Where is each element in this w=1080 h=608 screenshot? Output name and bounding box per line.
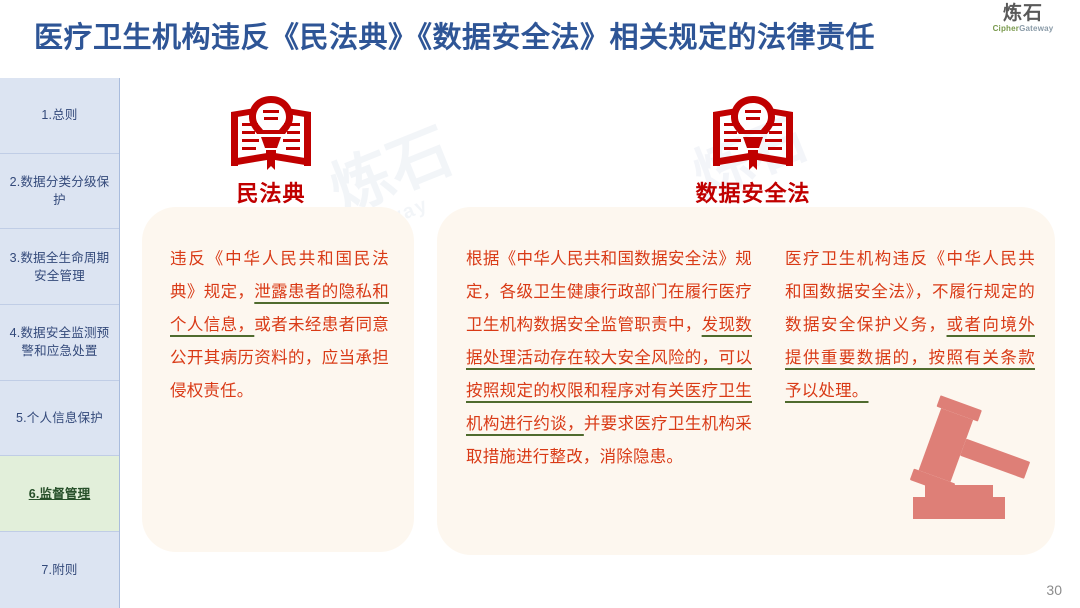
- sidebar-item-label: 4.数据安全监测预警和应急处置: [6, 324, 113, 360]
- sidebar-item-6-active[interactable]: 6.监督管理: [0, 456, 119, 532]
- sidebar-nav: 1.总则 2.数据分类分级保护 3.数据全生命周期安全管理 4.数据安全监测预警…: [0, 78, 120, 608]
- book-lightbulb-icon: [225, 96, 317, 174]
- sidebar-item-5[interactable]: 5.个人信息保护: [0, 381, 119, 457]
- sidebar-item-label: 6.监督管理: [29, 485, 91, 503]
- brand-logo: 炼石 CipherGateway: [980, 4, 1066, 33]
- sidebar-item-label: 7.附则: [41, 561, 77, 579]
- text-column-civil-code: 违反《中华人民共和国民法典》规定，泄露患者的隐私和个人信息，或者未经患者同意公开…: [170, 243, 389, 408]
- sidebar-item-1[interactable]: 1.总则: [0, 78, 119, 154]
- sidebar-item-label: 5.个人信息保护: [16, 409, 103, 427]
- sidebar-item-4[interactable]: 4.数据安全监测预警和应急处置: [0, 305, 119, 381]
- sidebar-item-label: 1.总则: [41, 106, 77, 124]
- brand-logo-en-cipher: Cipher: [993, 24, 1020, 33]
- sidebar-item-label: 3.数据全生命周期安全管理: [6, 249, 113, 285]
- book-lightbulb-icon: [707, 96, 799, 174]
- law-label: 民法典: [196, 176, 346, 208]
- sidebar-item-7[interactable]: 7.附则: [0, 532, 119, 608]
- law-header-civil-code: 民法典: [196, 96, 346, 208]
- brand-logo-en-gateway: Gateway: [1019, 24, 1053, 33]
- sidebar-item-label: 2.数据分类分级保护: [6, 173, 113, 209]
- page-number: 30: [1046, 582, 1062, 598]
- text-column-dsl-supervision: 根据《中华人民共和国数据安全法》规定，各级卫生健康行政部门在履行医疗卫生机构数据…: [466, 243, 752, 474]
- sidebar-item-2[interactable]: 2.数据分类分级保护: [0, 154, 119, 230]
- brand-logo-cn: 炼石: [980, 4, 1066, 23]
- page-title: 医疗卫生机构违反《民法典》《数据安全法》相关规定的法律责任: [34, 14, 875, 56]
- brand-logo-en: CipherGateway: [980, 25, 1066, 33]
- gavel-icon: [893, 393, 1043, 528]
- text-column-dsl-violation: 医疗卫生机构违反《中华人民共和国数据安全法》，不履行规定的数据安全保护义务，或者…: [785, 243, 1035, 408]
- sidebar-item-3[interactable]: 3.数据全生命周期安全管理: [0, 229, 119, 305]
- law-header-data-security-law: 数据安全法: [678, 96, 828, 208]
- law-label: 数据安全法: [678, 176, 828, 208]
